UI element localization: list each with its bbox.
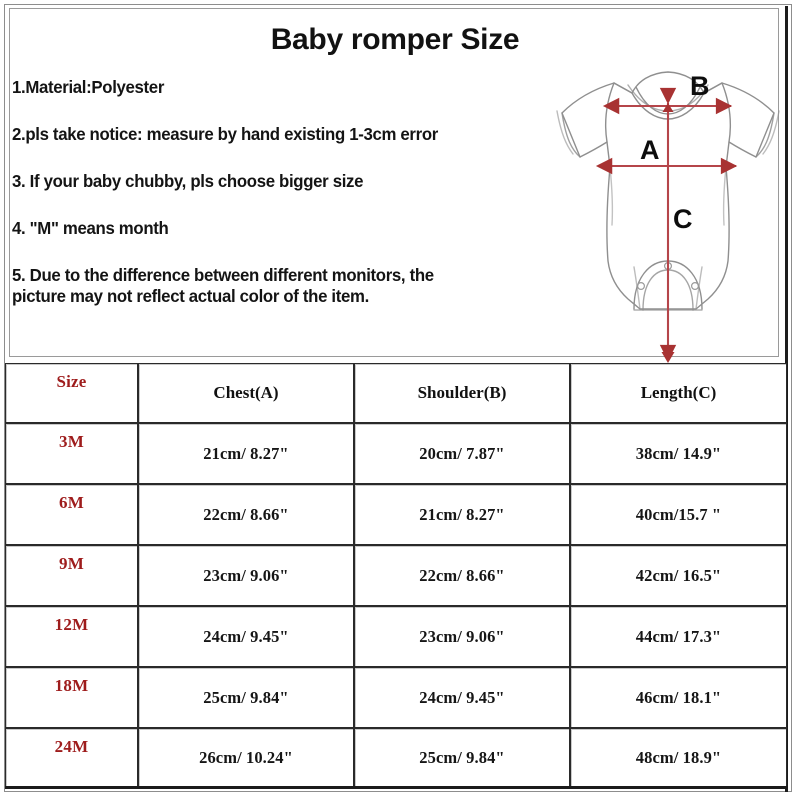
- row-chest-cell: 22cm/ 8.66": [138, 484, 354, 545]
- length-arrow-head-bottom: [662, 352, 675, 363]
- row-chest-value: 21cm/ 8.27": [139, 444, 353, 464]
- row-shoulder-value: 20cm/ 7.87": [355, 444, 569, 464]
- note-item-2: 2.pls take notice: measure by hand exist…: [12, 124, 511, 145]
- row-shoulder-cell: 23cm/ 9.06": [354, 606, 570, 667]
- row-size-cell: 3M: [5, 423, 138, 484]
- row-size-cell: 18M: [5, 667, 138, 728]
- row-length-cell: 40cm/15.7 ": [570, 484, 787, 545]
- label-a: A: [640, 135, 660, 165]
- note-item-5: 5. Due to the difference between differe…: [12, 265, 511, 307]
- row-length-cell: 42cm/ 16.5": [570, 545, 787, 606]
- row-size-cell: 12M: [5, 606, 138, 667]
- row-length-value: 48cm/ 18.9": [571, 748, 786, 768]
- row-chest-cell: 24cm/ 9.45": [138, 606, 354, 667]
- label-c: C: [673, 204, 693, 234]
- row-chest-cell: 21cm/ 8.27": [138, 423, 354, 484]
- row-size-cell: 6M: [5, 484, 138, 545]
- header-cell-size: Size: [5, 363, 138, 423]
- row-length-value: 42cm/ 16.5": [571, 566, 786, 586]
- row-chest-cell: 25cm/ 9.84": [138, 667, 354, 728]
- row-shoulder-cell: 25cm/ 9.84": [354, 728, 570, 787]
- row-size-cell: 9M: [5, 545, 138, 606]
- note-item-1: 1.Material:Polyester: [12, 77, 511, 98]
- row-chest-cell: 26cm/ 10.24": [138, 728, 354, 787]
- row-size-cell: 24M: [5, 728, 138, 787]
- row-chest-cell: 23cm/ 9.06": [138, 545, 354, 606]
- header-label-shoulder: Shoulder(B): [355, 383, 569, 403]
- row-shoulder-cell: 21cm/ 8.27": [354, 484, 570, 545]
- snap-dot-right: [692, 283, 699, 290]
- note-item-4: 4. "M" means month: [12, 218, 511, 239]
- table-row: 12M 24cm/ 9.45" 23cm/ 9.06" 44cm/ 17.3": [5, 606, 787, 667]
- row-chest-value: 22cm/ 8.66": [139, 505, 353, 525]
- header-label-size: Size: [6, 372, 137, 392]
- size-chart-page: Baby romper Size 1.Material:Polyester 2.…: [0, 0, 800, 800]
- row-size-label: 6M: [6, 493, 137, 513]
- row-shoulder-cell: 24cm/ 9.45": [354, 667, 570, 728]
- table-bottom-edge: [5, 786, 787, 789]
- size-table: Size Chest(A) Shoulder(B) Length(C) 3M 2…: [5, 363, 787, 788]
- length-arrow-head-top: [663, 103, 674, 112]
- row-size-label: 3M: [6, 432, 137, 452]
- row-length-cell: 38cm/ 14.9": [570, 423, 787, 484]
- table-row: 18M 25cm/ 9.84" 24cm/ 9.45" 46cm/ 18.1": [5, 667, 787, 728]
- table-row: 24M 26cm/ 10.24" 25cm/ 9.84" 48cm/ 18.9": [5, 728, 787, 787]
- info-panel: Baby romper Size 1.Material:Polyester 2.…: [9, 8, 779, 357]
- row-shoulder-value: 23cm/ 9.06": [355, 627, 569, 647]
- row-length-cell: 44cm/ 17.3": [570, 606, 787, 667]
- table-header-row: Size Chest(A) Shoulder(B) Length(C): [5, 363, 787, 423]
- note-item-3: 3. If your baby chubby, pls choose bigge…: [12, 171, 511, 192]
- row-size-label: 18M: [6, 676, 137, 696]
- romper-illustration-svg: B A C: [546, 11, 790, 367]
- row-length-value: 40cm/15.7 ": [571, 505, 786, 525]
- header-label-chest: Chest(A): [139, 383, 353, 403]
- row-chest-value: 26cm/ 10.24": [139, 748, 353, 768]
- snap-dot-left: [638, 283, 645, 290]
- row-chest-value: 25cm/ 9.84": [139, 688, 353, 708]
- header-cell-shoulder: Shoulder(B): [354, 363, 570, 423]
- header-cell-length: Length(C): [570, 363, 787, 423]
- row-size-label: 12M: [6, 615, 137, 635]
- header-cell-chest: Chest(A): [138, 363, 354, 423]
- header-label-length: Length(C): [571, 383, 786, 403]
- row-shoulder-cell: 20cm/ 7.87": [354, 423, 570, 484]
- row-shoulder-cell: 22cm/ 8.66": [354, 545, 570, 606]
- row-chest-value: 24cm/ 9.45": [139, 627, 353, 647]
- row-size-label: 9M: [6, 554, 137, 574]
- row-chest-value: 23cm/ 9.06": [139, 566, 353, 586]
- row-size-label: 24M: [6, 737, 137, 757]
- row-shoulder-value: 21cm/ 8.27": [355, 505, 569, 525]
- row-length-value: 38cm/ 14.9": [571, 444, 786, 464]
- row-length-value: 44cm/ 17.3": [571, 627, 786, 647]
- row-shoulder-value: 22cm/ 8.66": [355, 566, 569, 586]
- row-shoulder-value: 25cm/ 9.84": [355, 748, 569, 768]
- row-shoulder-value: 24cm/ 9.45": [355, 688, 569, 708]
- table-row: 9M 23cm/ 9.06" 22cm/ 8.66" 42cm/ 16.5": [5, 545, 787, 606]
- label-b: B: [690, 71, 710, 101]
- romper-diagram: B A C: [546, 11, 790, 367]
- notes-list: 1.Material:Polyester 2.pls take notice: …: [12, 77, 532, 307]
- row-length-cell: 48cm/ 18.9": [570, 728, 787, 787]
- table-row: 6M 22cm/ 8.66" 21cm/ 8.27" 40cm/15.7 ": [5, 484, 787, 545]
- row-length-cell: 46cm/ 18.1": [570, 667, 787, 728]
- row-length-value: 46cm/ 18.1": [571, 688, 786, 708]
- table-row: 3M 21cm/ 8.27" 20cm/ 7.87" 38cm/ 14.9": [5, 423, 787, 484]
